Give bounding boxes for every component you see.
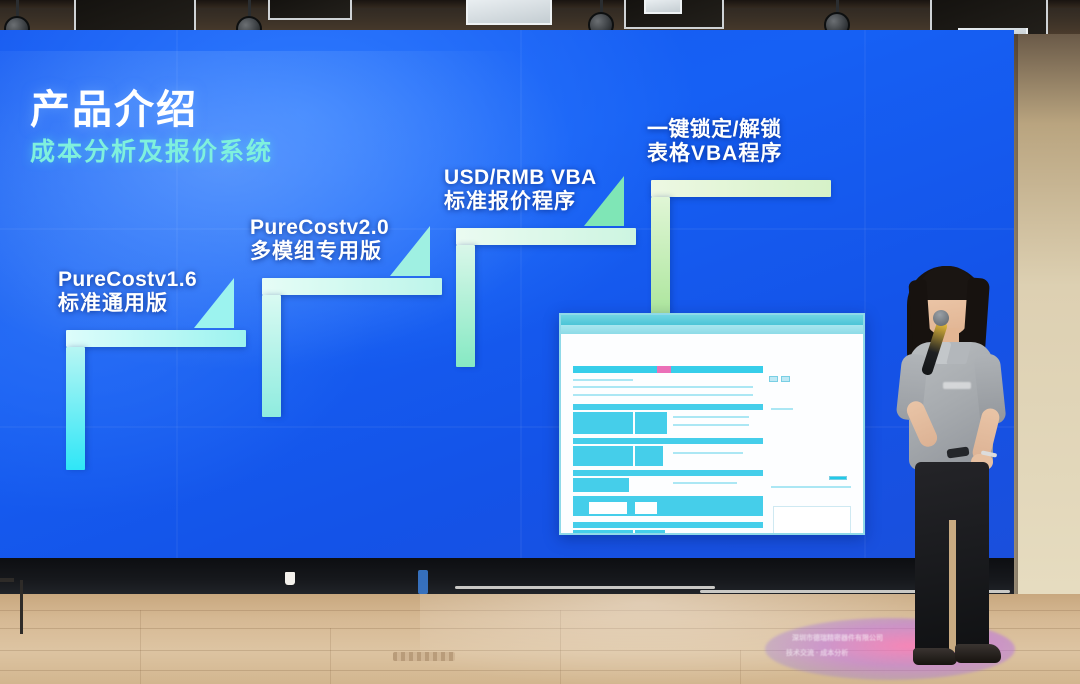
ceiling-fixture-6 — [644, 0, 682, 14]
floor-plank-seam — [330, 628, 331, 684]
ceiling-fixture-3 — [466, 0, 552, 25]
spreadsheet-grid — [561, 334, 863, 533]
step-2-line1: PureCostv2.0 — [250, 216, 389, 240]
chair-leg-right — [20, 580, 23, 634]
chair-leg-left — [0, 578, 14, 582]
ceiling-fixture-2 — [268, 0, 352, 20]
presenter-shoe-left — [913, 648, 957, 665]
spreadsheet-block — [573, 404, 763, 410]
spreadsheet-block — [573, 522, 763, 528]
spreadsheet-cell — [635, 502, 657, 514]
spreadsheet-text-line — [673, 416, 749, 418]
panel-seam-v2 — [520, 30, 522, 558]
spreadsheet-screenshot — [559, 313, 865, 535]
spreadsheet-ribbon — [561, 325, 863, 334]
spreadsheet-text-line — [573, 379, 633, 381]
slide-subtitle: 成本分析及报价系统 — [30, 132, 273, 168]
presenter-leg-gap — [949, 520, 956, 652]
cable-blue — [418, 570, 428, 594]
spreadsheet-text-line — [673, 452, 743, 454]
step-2-arrow-icon — [390, 226, 430, 276]
step-4-line2: 表格VBA程序 — [647, 142, 782, 166]
gobo-text: 深圳市德瑞精密器件有限公司 — [792, 633, 883, 643]
spreadsheet-block — [573, 438, 763, 444]
step-1-riser — [66, 347, 85, 470]
spreadsheet-button[interactable] — [829, 476, 847, 480]
step-2-bar — [262, 278, 442, 295]
spreadsheet-block — [573, 446, 633, 466]
spreadsheet-text-line — [673, 424, 749, 426]
spreadsheet-text-line — [771, 408, 793, 410]
spreadsheet-text-line — [673, 482, 737, 484]
step-4-line1: 一键锁定/解锁 — [647, 118, 782, 142]
slide-title: 产品介绍 — [30, 77, 198, 135]
spreadsheet-block — [635, 446, 663, 466]
step-2-label: PureCostv2.0 多模组专用版 — [250, 216, 389, 264]
floor-vent — [393, 652, 455, 661]
spreadsheet-chart-area — [773, 506, 851, 535]
side-wall — [1008, 34, 1080, 594]
step-1-arrow-icon — [194, 278, 234, 328]
presenter-shoe-right — [955, 644, 1001, 663]
step-3-riser — [456, 245, 475, 367]
spreadsheet-block — [635, 530, 665, 535]
spreadsheet-button[interactable] — [769, 376, 778, 382]
step-3-bar — [456, 228, 636, 245]
spreadsheet-block — [573, 470, 763, 476]
step-3-line2: 标准报价程序 — [444, 190, 597, 214]
step-3-line1: USD/RMB VBA — [444, 166, 597, 190]
presenter-shirt-logo — [943, 382, 971, 389]
screenshot-root: 产品介绍 成本分析及报价系统 PureCostv1.6 标准通用版 PureCo… — [0, 0, 1080, 684]
spreadsheet-text-line — [573, 394, 753, 396]
spreadsheet-text-line — [573, 386, 753, 388]
cable-white — [455, 586, 715, 589]
step-1-label: PureCostv1.6 标准通用版 — [58, 268, 197, 316]
step-1-line1: PureCostv1.6 — [58, 268, 197, 292]
gobo-text: 技术交流 · 成本分析 — [786, 648, 848, 658]
spreadsheet-cell — [589, 502, 627, 514]
spreadsheet-text-line — [771, 486, 851, 488]
floor-plank-seam — [140, 610, 141, 684]
step-1-bar — [66, 330, 246, 347]
step-4-bar — [651, 180, 831, 197]
led-screen: 产品介绍 成本分析及报价系统 PureCostv1.6 标准通用版 PureCo… — [0, 30, 1014, 558]
step-2-riser — [262, 295, 281, 417]
spreadsheet-titlebar — [561, 315, 863, 325]
step-4-label: 一键锁定/解锁 表格VBA程序 — [647, 118, 782, 166]
spreadsheet-block — [573, 478, 629, 492]
presenter — [885, 262, 1015, 684]
spreadsheet-block — [573, 412, 633, 434]
spreadsheet-block — [573, 530, 633, 535]
step-1-line2: 标准通用版 — [58, 292, 197, 316]
step-2-line2: 多模组专用版 — [250, 240, 389, 264]
spreadsheet-block — [635, 412, 667, 434]
spreadsheet-button[interactable] — [781, 376, 790, 382]
paper-cup — [285, 572, 295, 585]
step-4-riser — [651, 197, 670, 319]
step-3-label: USD/RMB VBA 标准报价程序 — [444, 166, 597, 214]
spreadsheet-header-row — [657, 366, 671, 373]
